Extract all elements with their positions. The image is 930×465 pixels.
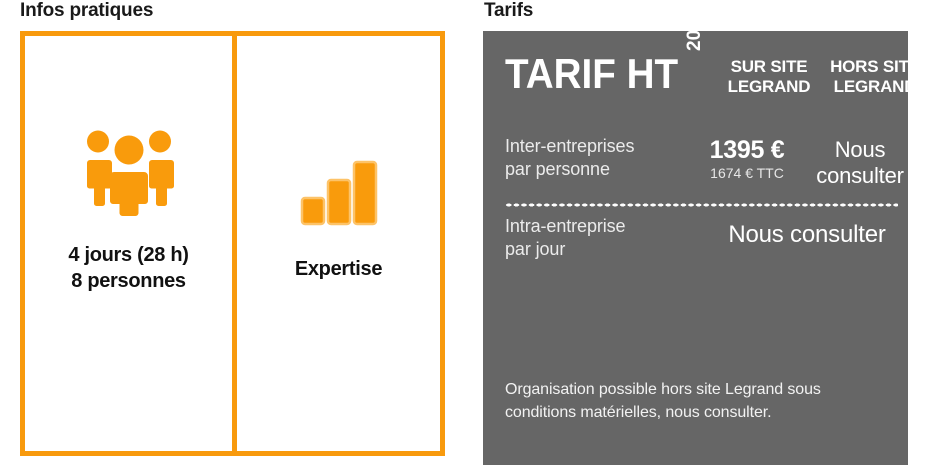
price-off-site-inter-line-2: consulter [801, 163, 908, 189]
info-cell-duration-label: 4 jours (28 h) 8 personnes [68, 242, 188, 295]
bar-chart-icon [300, 154, 378, 226]
column-header-off-site: HORS SITE LEGRAND [823, 57, 908, 97]
column-header-on-site-line-2: LEGRAND [717, 77, 821, 97]
price-on-site-inter: 1395 € 1674 € TTC [695, 137, 799, 183]
tarif-footnote-line-2: conditions matérielles, nous consulter. [505, 402, 890, 425]
info-cell-expertise: Expertise [237, 36, 440, 451]
row-label-intra-entreprise: Intra-entreprise par jour [505, 215, 695, 261]
price-on-site-inter-ttc: 1674 € TTC [695, 165, 799, 183]
duration-line-2: 8 personnes [68, 268, 188, 294]
row-label-inter-line-2: par personne [505, 158, 695, 181]
column-header-on-site-line-1: SUR SITE [717, 57, 821, 77]
tarif-ht-heading: TARIF HT [505, 53, 678, 95]
row-label-intra-line-1: Intra-entreprise [505, 215, 695, 238]
infos-pratiques-panel: 4 jours (28 h) 8 personnes Expertise [20, 31, 445, 456]
row-label-inter-entreprises: Inter-entreprises par personne [505, 135, 695, 181]
people-group-icon [81, 124, 177, 216]
info-cell-expertise-content: Expertise [237, 154, 440, 282]
tarif-footnote-line-1: Organisation possible hors site Legrand … [505, 379, 890, 402]
section-title-infos-pratiques: Infos pratiques [20, 0, 153, 22]
info-cell-expertise-label: Expertise [295, 256, 382, 282]
table-row-inter-entreprises: Inter-entreprises par personne 1395 € 16… [505, 131, 900, 193]
info-cell-duration-content: 4 jours (28 h) 8 personnes [25, 124, 232, 295]
price-off-site-inter-line-1: Nous [801, 137, 908, 163]
table-row-intra-entreprise: Intra-entreprise par jour Nous consulter [505, 211, 900, 273]
row-label-inter-line-1: Inter-entreprises [505, 135, 695, 158]
column-header-off-site-line-1: HORS SITE [823, 57, 908, 77]
price-off-site-inter: Nous consulter [801, 137, 908, 189]
row-label-intra-line-2: par jour [505, 238, 695, 261]
info-cell-duration: 4 jours (28 h) 8 personnes [25, 36, 237, 451]
section-title-tarifs: Tarifs [484, 0, 533, 22]
price-intra-entreprise: Nous consulter [695, 221, 908, 249]
page-root: Infos pratiques [0, 0, 930, 465]
tarif-year-label: 2025 [685, 31, 704, 51]
column-header-on-site: SUR SITE LEGRAND [717, 57, 821, 97]
row-divider-dotted [505, 203, 898, 207]
tarif-table-header: TARIF HT 2025 SUR SITE LEGRAND HORS SITE… [505, 45, 898, 111]
tarifs-panel: TARIF HT 2025 SUR SITE LEGRAND HORS SITE… [483, 31, 908, 465]
duration-line-1: 4 jours (28 h) [68, 242, 188, 268]
price-on-site-inter-ht: 1395 € [695, 137, 799, 163]
tarif-footnote: Organisation possible hors site Legrand … [505, 379, 890, 424]
column-header-off-site-line-2: LEGRAND [823, 77, 908, 97]
